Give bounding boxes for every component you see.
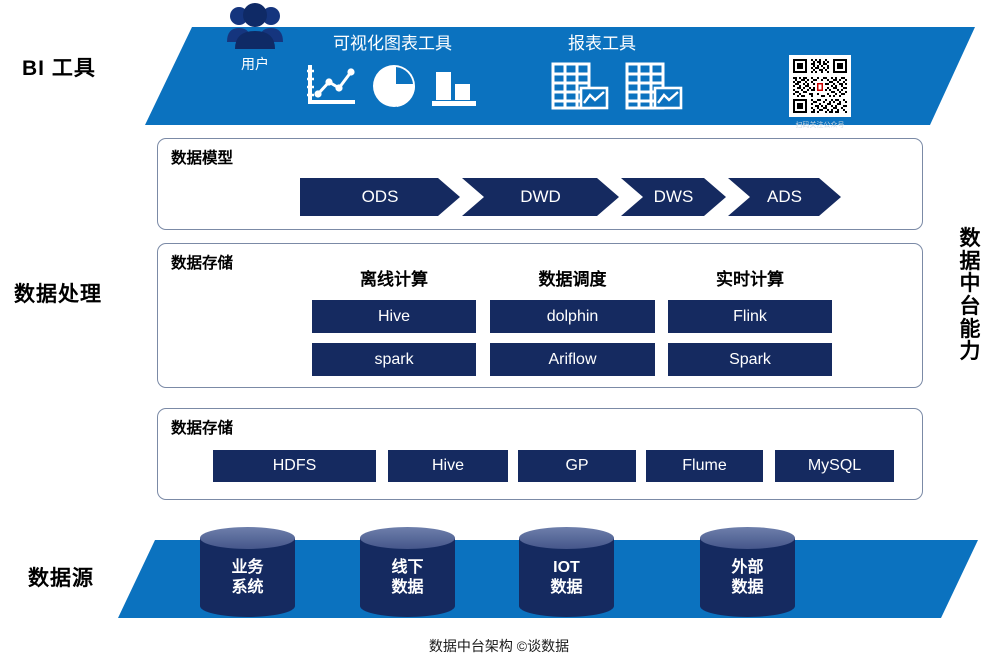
cylinder-line1: IOT bbox=[553, 558, 580, 578]
tool-spark-realtime[interactable]: Spark bbox=[668, 343, 832, 376]
stage-label: ADS bbox=[767, 187, 802, 207]
cylinder-line2: 数据 bbox=[391, 578, 423, 598]
data-storage-title: 数据存储 bbox=[171, 416, 233, 438]
tool-dolphin[interactable]: dolphin bbox=[490, 300, 655, 333]
tier-label-bi-tools: BI 工具 bbox=[22, 52, 96, 82]
report-tools-heading: 报表工具 bbox=[568, 29, 636, 54]
pie-chart-icon bbox=[372, 64, 418, 108]
cylinder-top bbox=[700, 527, 795, 549]
tier-label-data-processing: 数据处理 bbox=[14, 278, 102, 308]
users-icon bbox=[226, 2, 284, 54]
stage-label: DWD bbox=[520, 187, 561, 207]
right-label-char: 能 bbox=[952, 319, 988, 342]
source-cylinder-external[interactable]: 外部 数据 bbox=[700, 527, 795, 617]
right-label-char: 中 bbox=[952, 273, 988, 296]
cylinder-line2: 数据 bbox=[550, 578, 582, 598]
cylinder-line2: 数据 bbox=[731, 578, 763, 598]
stage-dwd[interactable]: DWD bbox=[462, 178, 619, 216]
right-label-char: 力 bbox=[952, 341, 988, 364]
stage-label: ODS bbox=[362, 187, 399, 207]
stage-label: DWS bbox=[654, 187, 694, 207]
source-cylinder-iot[interactable]: IOT 数据 bbox=[519, 527, 614, 617]
right-label-char: 数 bbox=[952, 228, 988, 251]
cylinder-label: 业务 系统 bbox=[200, 549, 295, 607]
tier-label-data-source: 数据源 bbox=[28, 562, 94, 592]
storage-mysql[interactable]: MySQL bbox=[775, 450, 894, 482]
cylinder-top bbox=[360, 527, 455, 549]
right-vertical-label: 数 据 中 台 能 力 bbox=[952, 228, 988, 364]
qr-caption: 扫码关注公众号 bbox=[786, 120, 854, 130]
right-label-char: 台 bbox=[952, 296, 988, 319]
column-header-scheduling: 数据调度 bbox=[490, 265, 655, 290]
data-model-title: 数据模型 bbox=[171, 146, 233, 168]
storage-hive[interactable]: Hive bbox=[388, 450, 508, 482]
data-processing-title: 数据存储 bbox=[171, 251, 233, 273]
storage-gp[interactable]: GP bbox=[518, 450, 636, 482]
source-cylinder-business[interactable]: 业务 系统 bbox=[200, 527, 295, 617]
column-header-realtime: 实时计算 bbox=[668, 265, 832, 290]
report-table-icon bbox=[625, 62, 683, 110]
tool-flink[interactable]: Flink bbox=[668, 300, 832, 333]
bar-chart-icon bbox=[430, 66, 478, 108]
cylinder-label: IOT 数据 bbox=[519, 549, 614, 607]
tool-spark-offline[interactable]: spark bbox=[312, 343, 476, 376]
cylinder-line1: 业务 bbox=[231, 558, 263, 578]
cylinder-top bbox=[200, 527, 295, 549]
tool-ariflow[interactable]: Ariflow bbox=[490, 343, 655, 376]
cylinder-label: 外部 数据 bbox=[700, 549, 795, 607]
cylinder-line2: 系统 bbox=[231, 578, 263, 598]
cylinder-label: 线下 数据 bbox=[360, 549, 455, 607]
source-cylinder-offline[interactable]: 线下 数据 bbox=[360, 527, 455, 617]
cylinder-line1: 线下 bbox=[391, 558, 423, 578]
right-label-char: 据 bbox=[952, 251, 988, 274]
cylinder-line1: 外部 bbox=[731, 558, 763, 578]
viz-tools-heading: 可视化图表工具 bbox=[333, 29, 452, 54]
stage-ods[interactable]: ODS bbox=[300, 178, 460, 216]
cylinder-top bbox=[519, 527, 614, 549]
line-chart-icon bbox=[305, 62, 357, 108]
qr-code-icon[interactable] bbox=[789, 55, 851, 117]
tool-hive-offline[interactable]: Hive bbox=[312, 300, 476, 333]
report-table-icon bbox=[551, 62, 609, 110]
footer-caption: 数据中台架构 ©谈数据 bbox=[0, 636, 998, 656]
storage-hdfs[interactable]: HDFS bbox=[213, 450, 376, 482]
column-header-offline: 离线计算 bbox=[312, 265, 476, 290]
users-caption: 用户 bbox=[228, 54, 282, 74]
storage-flume[interactable]: Flume bbox=[646, 450, 763, 482]
